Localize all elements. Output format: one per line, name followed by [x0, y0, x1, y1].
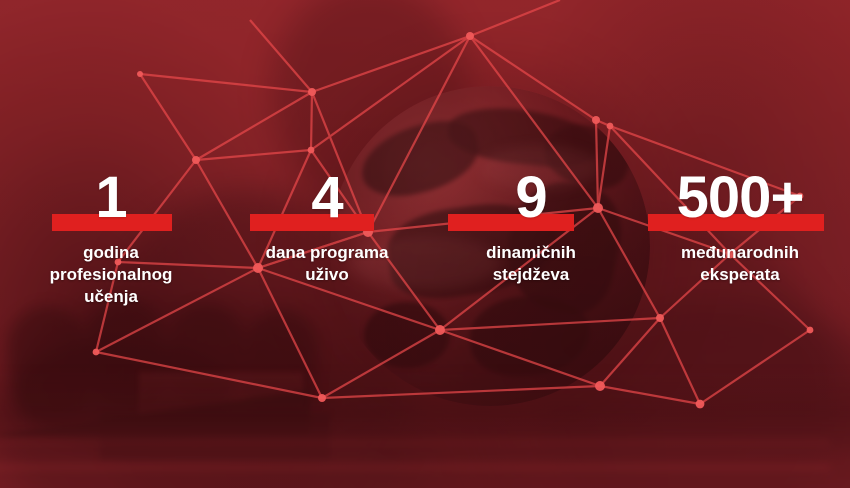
stat-label-line: učenja	[84, 287, 138, 306]
stats-row: 1 godina profesionalnog učenja 4 dana pr…	[0, 0, 850, 488]
stat-label: dana programa uživo	[222, 242, 432, 286]
stat-label-line: uživo	[305, 265, 348, 284]
stat-label-line: međunarodnih	[681, 243, 799, 262]
stat-label-line: profesionalnog	[50, 265, 173, 284]
stat-label-line: stejdževa	[493, 265, 570, 284]
stats-banner: 1 godina profesionalnog učenja 4 dana pr…	[0, 0, 850, 488]
stat-label-line: eksperata	[700, 265, 779, 284]
stat-label: godina profesionalnog učenja	[0, 242, 222, 308]
stat-label-line: dana programa	[266, 243, 389, 262]
stat-label-line: dinamičnih	[486, 243, 576, 262]
stat-number: 500+	[630, 168, 850, 228]
stat-block-years: 1 godina profesionalnog učenja	[0, 0, 222, 308]
stat-block-experts: 500+ međunarodnih eksperata	[630, 0, 850, 286]
stat-label: dinamičnih stejdževa	[432, 242, 630, 286]
stat-number: 9	[432, 168, 630, 228]
stat-block-days: 4 dana programa uživo	[222, 0, 432, 286]
stat-label-line: godina	[83, 243, 139, 262]
stat-block-stages: 9 dinamičnih stejdževa	[432, 0, 630, 286]
stat-number: 1	[0, 168, 222, 228]
stat-label: međunarodnih eksperata	[630, 242, 850, 286]
stat-number: 4	[222, 168, 432, 228]
